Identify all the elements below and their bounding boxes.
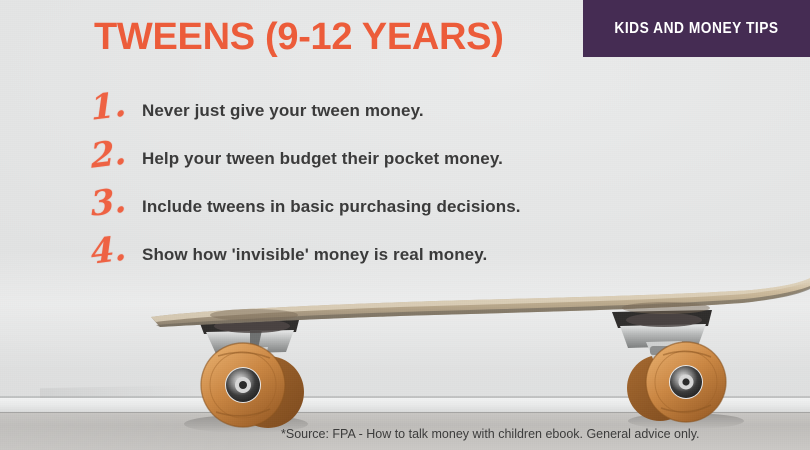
list-item-text: Include tweens in basic purchasing decis…: [142, 188, 521, 215]
badge-label: KIDS AND MONEY TIPS: [614, 20, 778, 38]
skateboard-deck: [151, 278, 810, 327]
list-item-text: Help your tween budget their pocket mone…: [142, 140, 503, 167]
rear-wheel: [646, 342, 726, 422]
list-item-text: Show how 'invisible' money is real money…: [142, 236, 487, 263]
kids-and-money-tips-badge: KIDS AND MONEY TIPS: [583, 0, 810, 57]
page-title: TWEENS (9-12 YEARS): [94, 16, 504, 59]
front-wheel: [201, 343, 285, 427]
infographic-card: KIDS AND MONEY TIPS TWEENS (9-12 YEARS) …: [0, 0, 810, 450]
list-item: 4. Show how 'invisible' money is real mo…: [88, 236, 708, 284]
list-item: 2. Help your tween budget their pocket m…: [88, 140, 708, 188]
list-item-text: Never just give your tween money.: [142, 92, 424, 119]
source-footnote: *Source: FPA - How to talk money with ch…: [281, 427, 700, 441]
list-item-number: 1.: [88, 85, 143, 126]
tips-list: 1. Never just give your tween money. 2. …: [88, 92, 708, 284]
list-item-number: 4.: [88, 229, 143, 270]
list-item: 3. Include tweens in basic purchasing de…: [88, 188, 708, 236]
list-item: 1. Never just give your tween money.: [88, 92, 708, 140]
list-item-number: 2.: [88, 133, 143, 174]
list-item-number: 3.: [88, 181, 143, 222]
